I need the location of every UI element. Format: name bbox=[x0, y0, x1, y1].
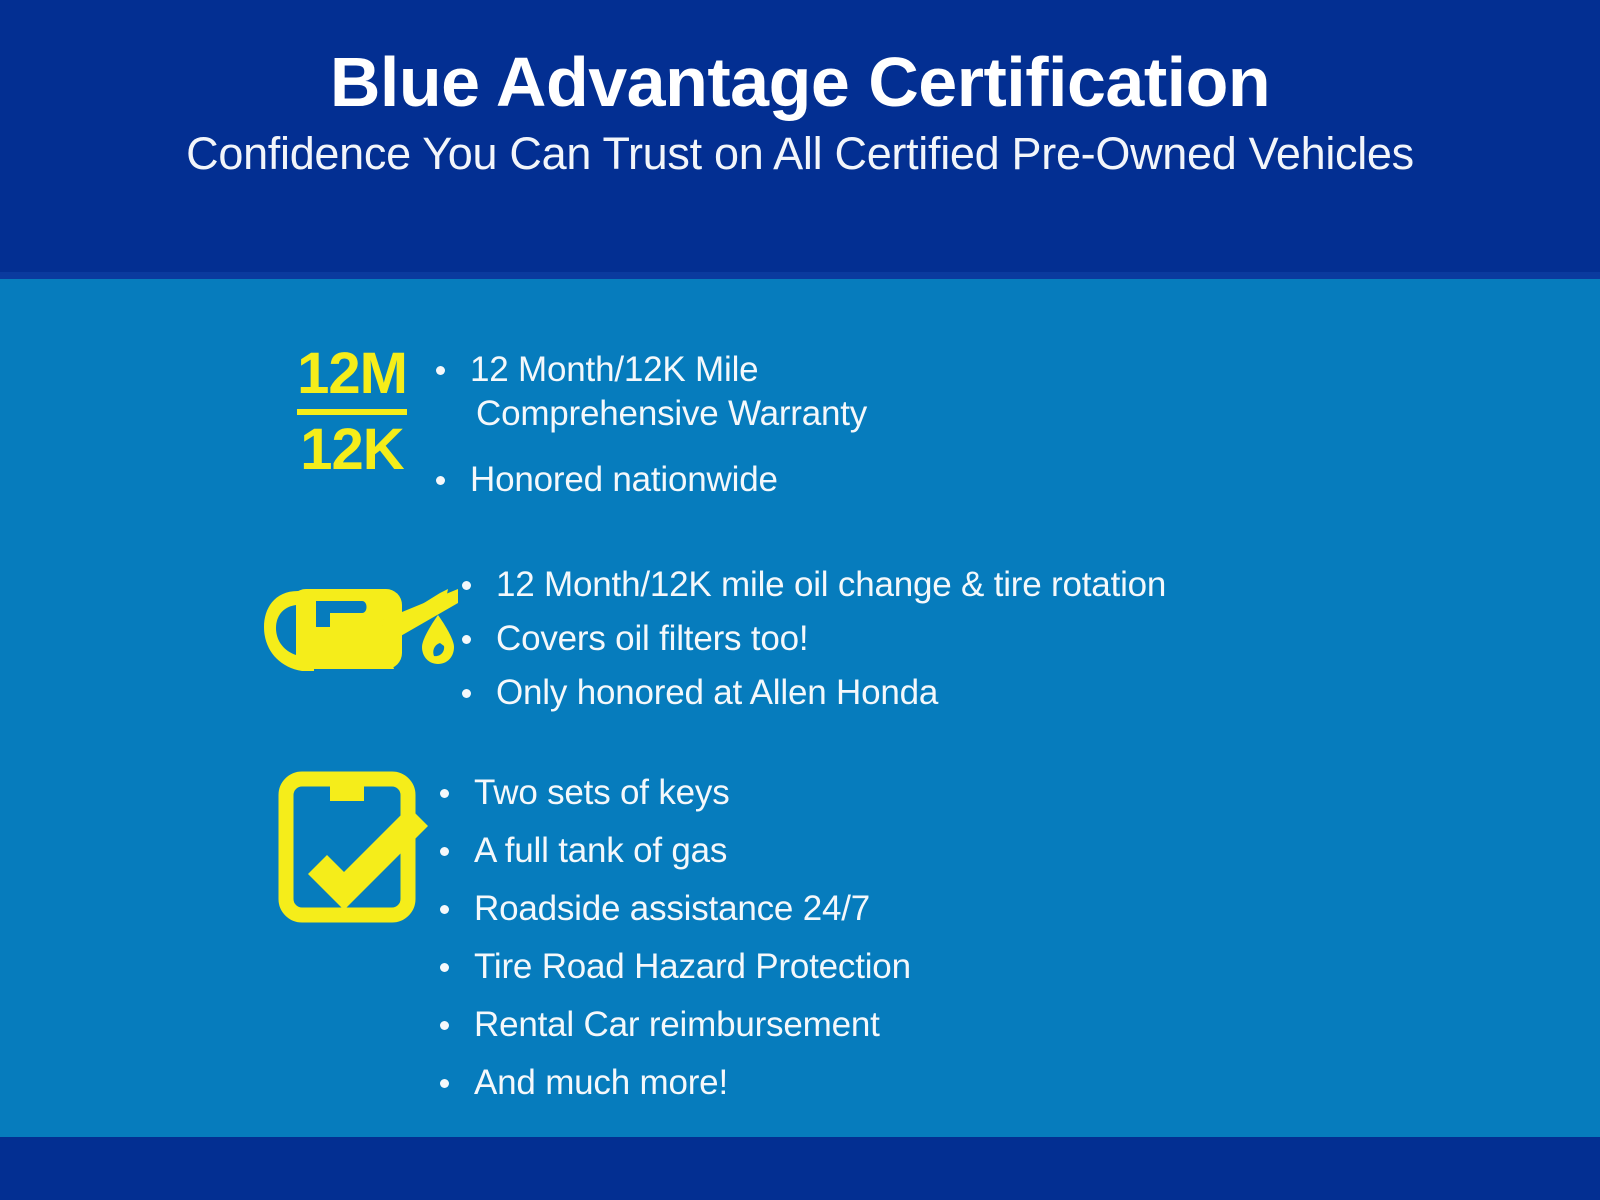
12m-over-12k-fraction-icon: 12M 12K bbox=[297, 345, 407, 479]
list-item-line: Comprehensive Warranty bbox=[470, 392, 867, 436]
poster-header: Blue Advantage Certification Confidence … bbox=[0, 0, 1600, 272]
list-item: Tire Road Hazard Protection bbox=[436, 945, 911, 989]
features-section: 12M 12K 12 Month/12K Mile Comprehensive … bbox=[0, 279, 1600, 1137]
fraction-numerator: 12M bbox=[297, 345, 407, 403]
feature-row-warranty: 12M 12K 12 Month/12K Mile Comprehensive … bbox=[272, 345, 867, 502]
fraction-denominator: 12K bbox=[297, 421, 407, 479]
icon-cell: 12M 12K bbox=[272, 345, 432, 479]
blue-advantage-certification-poster: Blue Advantage Certification Confidence … bbox=[0, 0, 1600, 1200]
list-item-line: Rental Car reimbursement bbox=[474, 1003, 911, 1047]
list-item-line: Covers oil filters too! bbox=[496, 617, 1166, 661]
list-item-line: And much more! bbox=[474, 1061, 911, 1105]
list-item-line: Honored nationwide bbox=[470, 458, 867, 502]
extras-bullet-list: Two sets of keys A full tank of gas Road… bbox=[436, 771, 911, 1106]
list-item-line: Two sets of keys bbox=[474, 771, 911, 815]
list-item: Honored nationwide bbox=[432, 458, 867, 502]
list-item: 12 Month/12K mile oil change & tire rota… bbox=[458, 563, 1166, 607]
oil-can-icon bbox=[262, 559, 458, 677]
list-item: Rental Car reimbursement bbox=[436, 1003, 911, 1047]
list-item-line: 12 Month/12K Mile bbox=[470, 348, 867, 392]
poster-footer bbox=[0, 1137, 1600, 1200]
page-subtitle: Confidence You Can Trust on All Certifie… bbox=[0, 129, 1600, 179]
list-item: Roadside assistance 24/7 bbox=[436, 887, 911, 931]
feature-row-maintenance: 12 Month/12K mile oil change & tire rota… bbox=[262, 559, 1166, 715]
list-item-line: Only honored at Allen Honda bbox=[496, 671, 1166, 715]
clipboard-checkmark-icon bbox=[278, 771, 434, 923]
list-item: And much more! bbox=[436, 1061, 911, 1105]
feature-row-extras: Two sets of keys A full tank of gas Road… bbox=[276, 771, 911, 1106]
list-item: A full tank of gas bbox=[436, 829, 911, 873]
maintenance-bullet-list: 12 Month/12K mile oil change & tire rota… bbox=[458, 559, 1166, 715]
fraction-bar bbox=[297, 409, 407, 415]
header-accent-divider bbox=[0, 272, 1600, 279]
page-title: Blue Advantage Certification bbox=[0, 46, 1600, 119]
icon-cell bbox=[276, 771, 436, 923]
icon-cell bbox=[262, 559, 458, 677]
list-item: 12 Month/12K Mile Comprehensive Warranty bbox=[432, 348, 867, 436]
list-item: Covers oil filters too! bbox=[458, 617, 1166, 661]
list-item: Two sets of keys bbox=[436, 771, 911, 815]
list-item: Only honored at Allen Honda bbox=[458, 671, 1166, 715]
list-item-line: Tire Road Hazard Protection bbox=[474, 945, 911, 989]
list-item-line: 12 Month/12K mile oil change & tire rota… bbox=[496, 563, 1166, 607]
list-item-line: Roadside assistance 24/7 bbox=[474, 887, 911, 931]
list-item-line: A full tank of gas bbox=[474, 829, 911, 873]
warranty-bullet-list: 12 Month/12K Mile Comprehensive Warranty… bbox=[432, 345, 867, 502]
